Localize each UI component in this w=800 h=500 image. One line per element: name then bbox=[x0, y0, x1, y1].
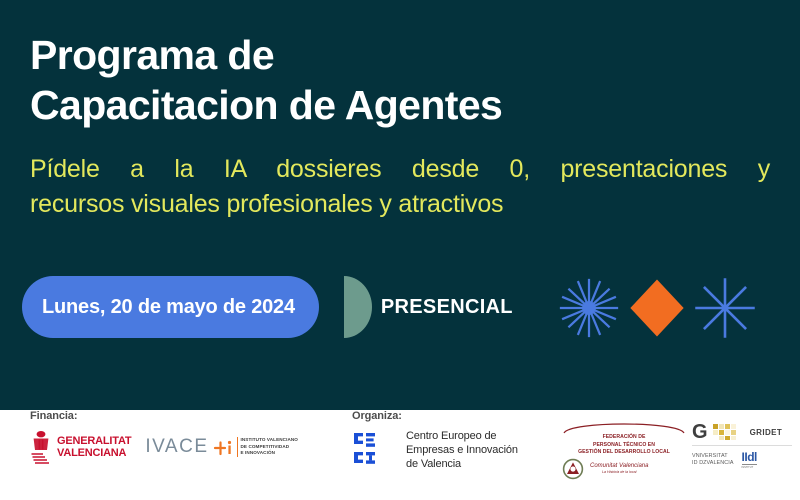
ivace-logo: IVACE INSTITUTO VALENCIANO DE COMPETITIV… bbox=[145, 436, 298, 458]
uv-line-2: ID ǱVALENCIA bbox=[692, 460, 734, 467]
ceei-line-1: Centro Europeo de bbox=[406, 429, 518, 443]
ceei-text: Centro Europeo de Empresas e Innovación … bbox=[406, 429, 518, 471]
financia-logos: GENERALITAT VALENCIANA IVACE bbox=[30, 430, 350, 464]
financia-label: Financia: bbox=[30, 410, 350, 422]
footer-section: Financia: bbox=[0, 410, 800, 500]
date-modality-row: Lunes, 20 de mayo de 2024 PRESENCIAL bbox=[22, 276, 513, 338]
financia-column: Financia: bbox=[30, 410, 350, 500]
federacion-sub: Comunitat Valenciana bbox=[590, 463, 648, 470]
gva-line-1: GENERALITAT bbox=[57, 435, 131, 447]
organiza-column: Organiza: Centro Europeo de bbox=[352, 410, 552, 500]
subtitle: Pídele a la IA dossieres desde 0, presen… bbox=[30, 152, 770, 221]
uv-line-1: VNIVERSITAT bbox=[692, 453, 734, 460]
ceei-mark-icon bbox=[352, 430, 398, 470]
diamond-icon bbox=[626, 277, 688, 339]
event-poster: Programa de Capacitacion de Agentes Píde… bbox=[0, 0, 800, 500]
gva-crest-icon bbox=[30, 430, 52, 464]
date-badge[interactable]: Lunes, 20 de mayo de 2024 bbox=[22, 276, 319, 338]
federacion-line-3: GESTIÓN DEL DESARROLLO LOCAL bbox=[560, 449, 688, 457]
title-line-2: Capacitacion de Agentes bbox=[30, 80, 710, 130]
ivace-plus-i-icon bbox=[213, 437, 233, 457]
federacion-line-1: FEDERACIÓN DE bbox=[560, 434, 688, 442]
gridet-logo: G GRIDET bbox=[692, 422, 792, 442]
hero-section: Programa de Capacitacion de Agentes Píde… bbox=[0, 0, 800, 410]
gridet-mark: G bbox=[692, 422, 708, 442]
gridet-divider bbox=[692, 445, 792, 446]
sage-half-disc bbox=[344, 276, 372, 338]
ceei-line-2: Empresas e Innovación bbox=[406, 443, 518, 457]
federacion-body: FEDERACIÓN DE PERSONAL TÉCNICO EN GESTIÓ… bbox=[560, 420, 688, 480]
asterisk-icon bbox=[694, 277, 756, 339]
page-title: Programa de Capacitacion de Agentes bbox=[30, 30, 710, 130]
ivace-sub-3: E INNOVACIÓN bbox=[241, 450, 298, 457]
universitat-valencia-logo: VNIVERSITAT ID ǱVALENCIA bbox=[692, 453, 734, 467]
gridet-column: G GRIDET bbox=[692, 410, 792, 500]
sunburst-icon bbox=[558, 277, 620, 339]
organiza-label: Organiza: bbox=[352, 410, 552, 422]
ceei-line-3: de Valencia bbox=[406, 457, 518, 471]
ceei-valencia-logo: Centro Europeo de Empresas e Innovación … bbox=[352, 429, 552, 471]
gva-wordmark: GENERALITAT VALENCIANA bbox=[57, 435, 131, 460]
ivace-wordmark: IVACE bbox=[145, 436, 208, 458]
date-pill-group: Lunes, 20 de mayo de 2024 bbox=[22, 276, 319, 338]
federacion-sub-small: La Història de la local bbox=[590, 470, 648, 474]
ivace-sub-1: INSTITUTO VALENCIANO bbox=[241, 437, 298, 444]
modality-label: PRESENCIAL bbox=[381, 296, 513, 319]
subtitle-line-2: recursos visuales profesionales y atract… bbox=[30, 187, 770, 222]
subtitle-line-1: Pídele a la IA dossieres desde 0, presen… bbox=[30, 152, 770, 187]
iidl-mark: IIdl bbox=[742, 451, 757, 463]
iidl-logo: IIdl INSTITUT bbox=[742, 451, 757, 470]
federacion-logo: FEDERACIÓN DE PERSONAL TÉCNICO EN GESTIÓ… bbox=[560, 410, 688, 500]
ivace-subtext: INSTITUTO VALENCIANO DE COMPETITIVIDAD E… bbox=[237, 437, 298, 457]
gridet-pixels-icon bbox=[713, 423, 745, 441]
iidl-sub: INSTITUT bbox=[742, 464, 757, 470]
gva-line-2: VALENCIANA bbox=[57, 447, 131, 459]
uv-iidl-row: VNIVERSITAT ID ǱVALENCIA IIdl INSTITUT bbox=[692, 451, 792, 470]
generalitat-valenciana-logo: GENERALITAT VALENCIANA bbox=[30, 430, 131, 464]
title-line-1: Programa de bbox=[30, 30, 710, 80]
decorative-shapes bbox=[558, 277, 758, 339]
federacion-emblem-icon bbox=[560, 458, 586, 480]
federacion-arc-icon bbox=[560, 420, 688, 434]
gridet-wordmark: GRIDET bbox=[750, 428, 783, 437]
